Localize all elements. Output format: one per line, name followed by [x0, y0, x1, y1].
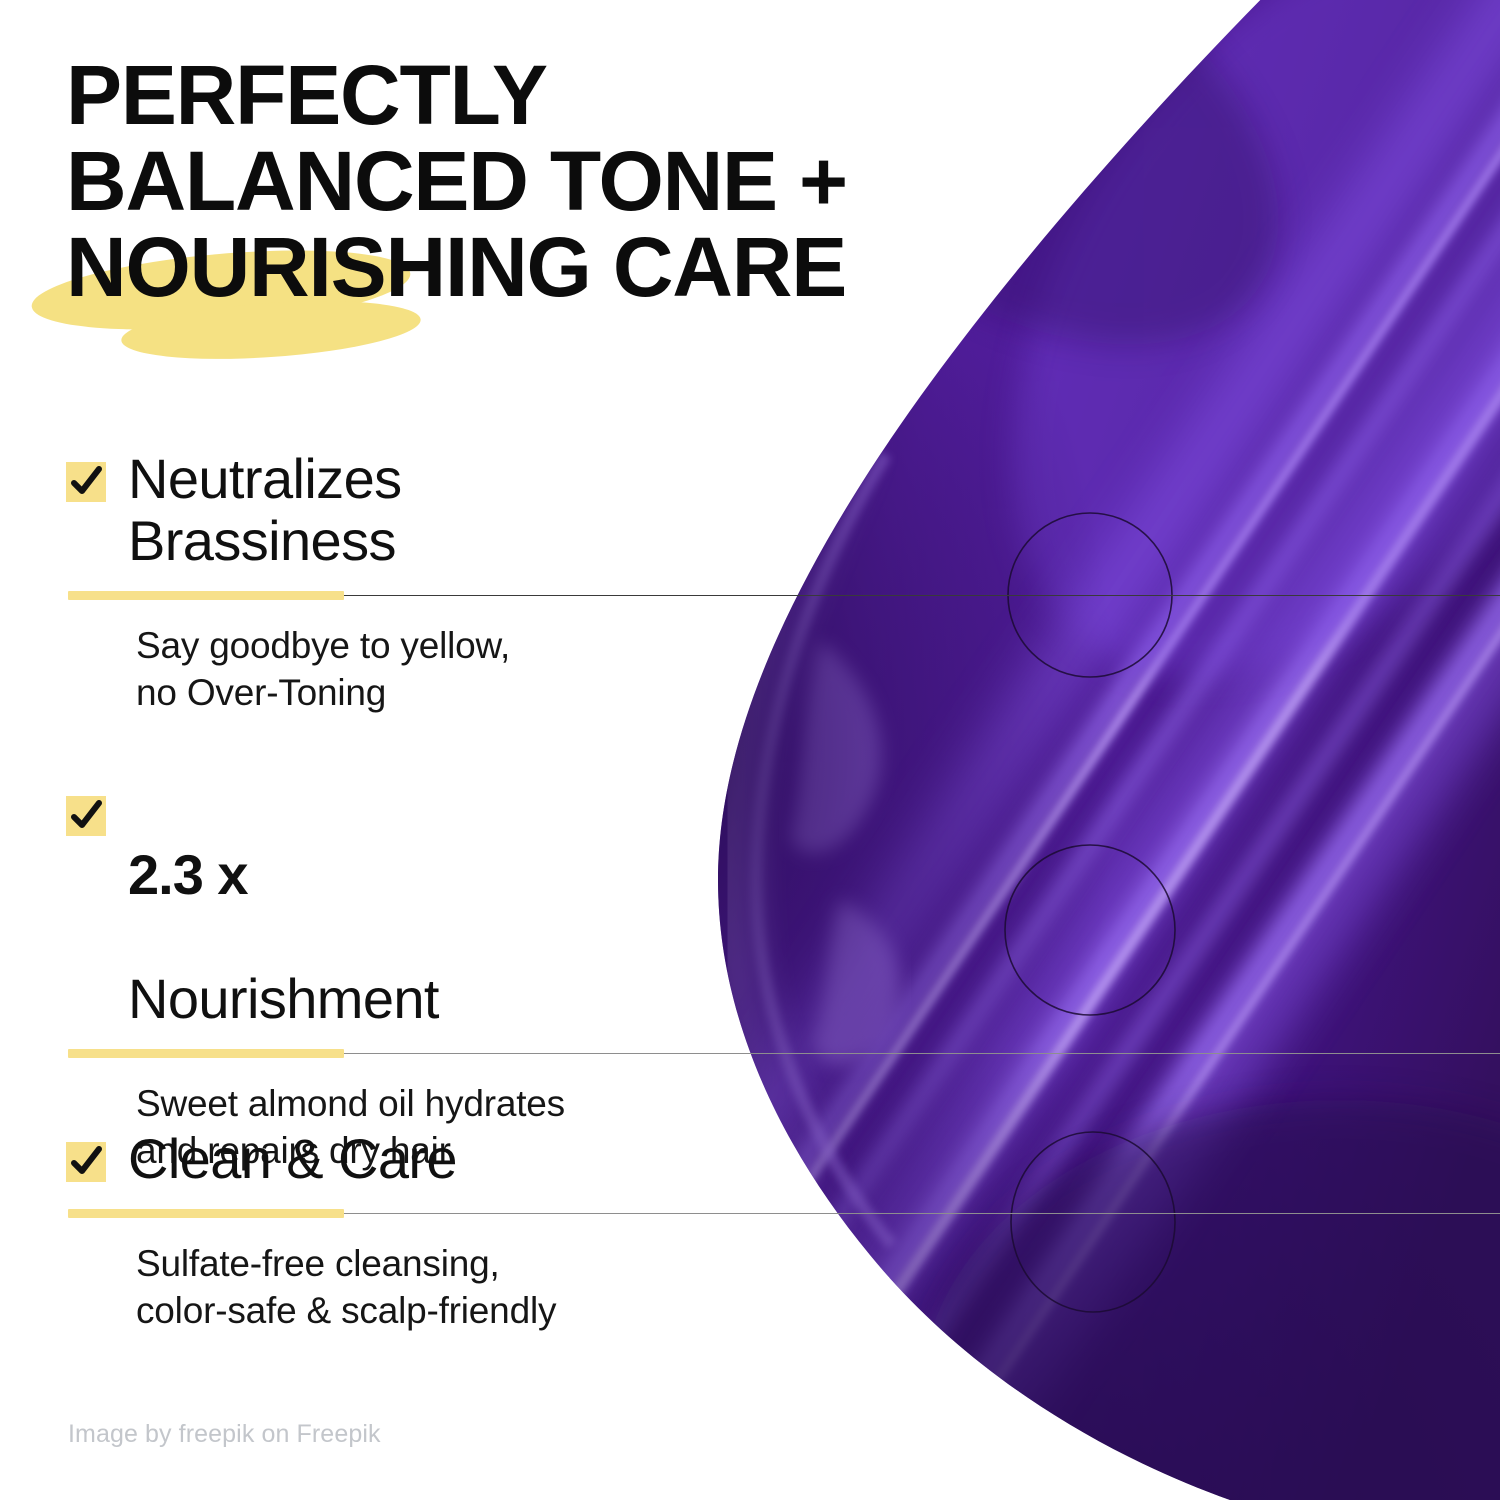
check-mark-icon	[66, 1142, 106, 1182]
feature-2-title: 2.3 x Nourishment	[128, 782, 439, 1030]
feature-1-accent-bar	[68, 591, 344, 600]
infographic-canvas: PERFECTLY BALANCED TONE + NOURISHING CAR…	[0, 0, 1500, 1500]
feature-2-title-rest: Nourishment	[128, 967, 439, 1030]
check-mark-icon	[66, 462, 106, 502]
feature-1-leader-line	[344, 595, 1500, 596]
image-attribution: Image by freepik on Freepik	[68, 1418, 381, 1450]
feature-1-head: Neutralizes Brassiness	[66, 448, 1500, 572]
checkbox-1[interactable]	[66, 462, 106, 502]
feature-2-head: 2.3 x Nourishment	[66, 782, 1500, 1030]
feature-2-leader-line	[344, 1053, 1500, 1054]
headline-line-2: BALANCED TONE +	[66, 138, 966, 224]
feature-3-head: Clean & Care	[66, 1128, 1500, 1190]
feature-block-3: Clean & Care Sulfate-free cleansing, col…	[66, 1128, 1500, 1334]
checkbox-3[interactable]	[66, 1142, 106, 1182]
feature-3-accent-bar	[68, 1209, 344, 1218]
feature-1-title: Neutralizes Brassiness	[128, 448, 402, 572]
feature-2-accent-bar	[68, 1049, 344, 1058]
feature-1-description: Say goodbye to yellow, no Over-Toning	[136, 622, 1500, 716]
headline-line-3: NOURISHING CARE	[66, 224, 966, 310]
feature-3-leader-line	[344, 1213, 1500, 1214]
feature-2-divider	[68, 1046, 1500, 1058]
feature-1-divider	[68, 588, 1500, 600]
feature-3-title: Clean & Care	[128, 1128, 457, 1190]
headline-line-1: PERFECTLY	[66, 52, 966, 138]
feature-3-description: Sulfate-free cleansing, color-safe & sca…	[136, 1240, 1500, 1334]
feature-2-title-emphasis: 2.3 x	[128, 843, 248, 906]
checkbox-2[interactable]	[66, 796, 106, 836]
headline: PERFECTLY BALANCED TONE + NOURISHING CAR…	[66, 52, 966, 310]
check-mark-icon	[66, 796, 106, 836]
feature-block-2: 2.3 x Nourishment Sweet almond oil hydra…	[66, 782, 1500, 1174]
feature-3-divider	[68, 1206, 1500, 1218]
feature-block-1: Neutralizes Brassiness Say goodbye to ye…	[66, 448, 1500, 716]
